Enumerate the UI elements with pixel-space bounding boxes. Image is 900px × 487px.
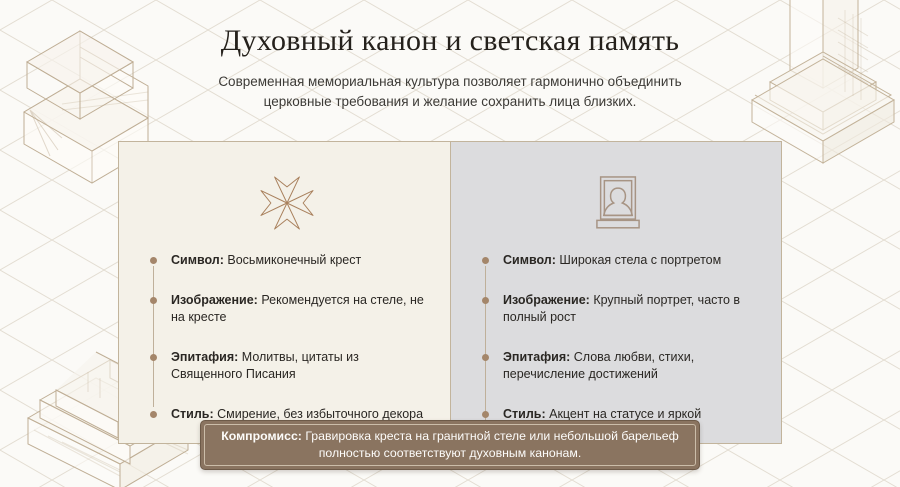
list-item-text: Восьмиконечный крест bbox=[227, 253, 361, 267]
comparison-panels: Символ: Восьмиконечный крест Изображение… bbox=[118, 141, 782, 444]
bullet-dot-icon bbox=[482, 411, 489, 418]
bullet-list-left: Символ: Восьмиконечный крест Изображение… bbox=[149, 252, 424, 423]
bullet-dot-icon bbox=[150, 354, 157, 361]
panel-spiritual-canon: Символ: Восьмиконечный крест Изображение… bbox=[119, 142, 450, 443]
list-item-label: Символ: bbox=[171, 253, 224, 267]
list-item-text: Широкая стела с портретом bbox=[559, 253, 721, 267]
bullet-dot-icon bbox=[150, 257, 157, 264]
list-item: Изображение: Крупный портрет, часто в по… bbox=[481, 292, 755, 327]
page-title: Духовный канон и светская память bbox=[0, 24, 900, 59]
slide-canvas: Духовный канон и светская память Совреме… bbox=[0, 0, 900, 487]
banner-label: Компромисс: bbox=[221, 429, 302, 443]
subtitle-line-2: церковные требования и желание сохранить… bbox=[264, 94, 637, 109]
bullet-list-right: Символ: Широкая стела с портретом Изобра… bbox=[481, 252, 755, 441]
list-item-text: Смирение, без избыточного декора bbox=[217, 407, 423, 421]
page-subtitle: Современная мемориальная культура позвол… bbox=[0, 72, 900, 112]
portrait-stele-icon bbox=[481, 160, 755, 246]
list-item: Изображение: Рекомендуется на стеле, не … bbox=[149, 292, 424, 327]
list-item: Символ: Восьмиконечный крест bbox=[149, 252, 424, 270]
list-item-label: Символ: bbox=[503, 253, 556, 267]
panel-secular-memory: Символ: Широкая стела с портретом Изобра… bbox=[450, 142, 781, 443]
compromise-banner: Компромисс: Гравировка креста на гранитн… bbox=[200, 420, 700, 470]
banner-line-2: полностью соответствуют духовным канонам… bbox=[319, 446, 582, 460]
bullet-dot-icon bbox=[150, 411, 157, 418]
list-item: Символ: Широкая стела с портретом bbox=[481, 252, 755, 270]
bullet-dot-icon bbox=[150, 297, 157, 304]
maltese-cross-icon bbox=[149, 160, 424, 246]
list-item-label: Изображение: bbox=[171, 293, 258, 307]
banner-line-1: Гравировка креста на гранитной стеле или… bbox=[305, 429, 678, 443]
bullet-dot-icon bbox=[482, 257, 489, 264]
list-item-label: Стиль: bbox=[171, 407, 214, 421]
bullet-dot-icon bbox=[482, 297, 489, 304]
list-item: Эпитафия: Молитвы, цитаты из Священного … bbox=[149, 349, 424, 384]
bullet-dot-icon bbox=[482, 354, 489, 361]
list-item-label: Эпитафия: bbox=[171, 350, 238, 364]
subtitle-line-1: Современная мемориальная культура позвол… bbox=[218, 74, 681, 89]
list-item-label: Эпитафия: bbox=[503, 350, 570, 364]
list-item-label: Стиль: bbox=[503, 407, 546, 421]
list-item: Эпитафия: Слова любви, стихи, перечислен… bbox=[481, 349, 755, 384]
header: Духовный канон и светская память Совреме… bbox=[0, 24, 900, 112]
list-item-label: Изображение: bbox=[503, 293, 590, 307]
